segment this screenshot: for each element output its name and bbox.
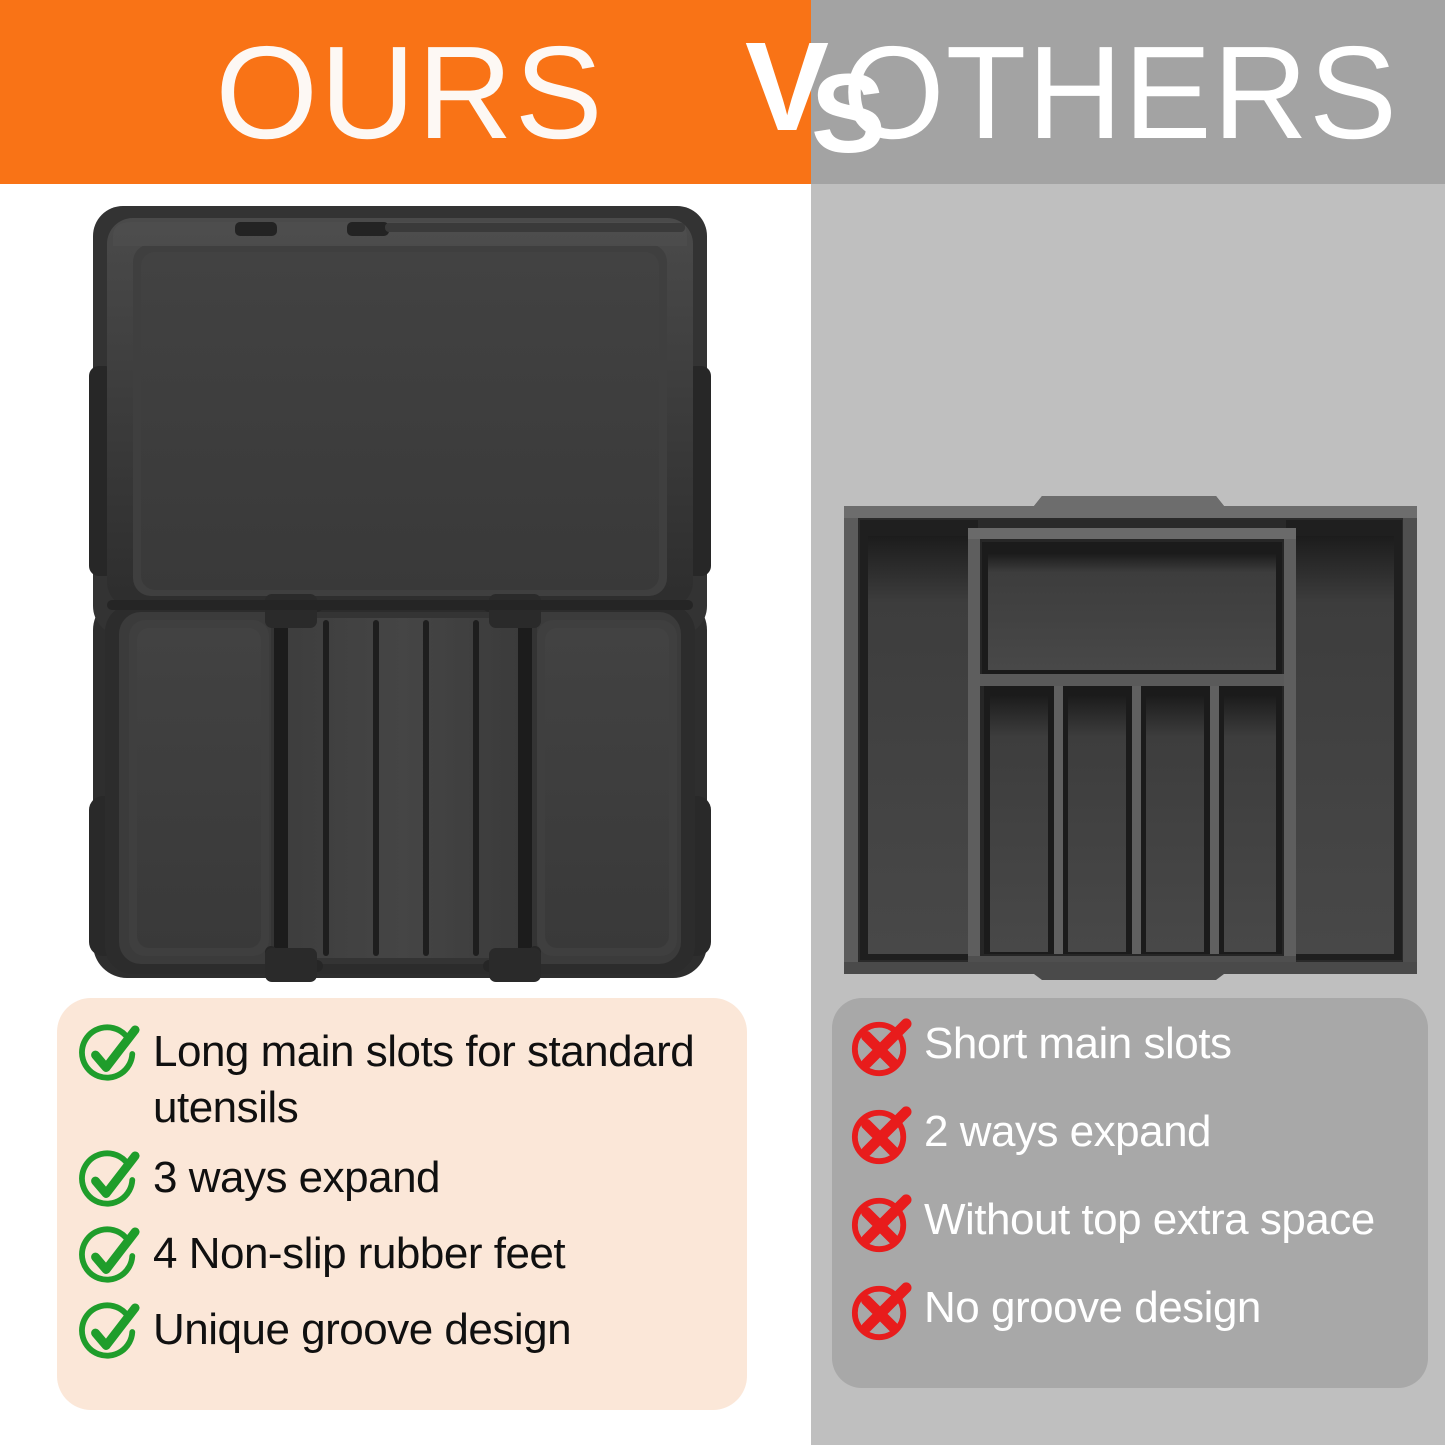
others-tray-illustration [838, 488, 1423, 986]
list-item: Unique groove design [79, 1302, 729, 1364]
red-x-circle-icon [850, 1192, 912, 1254]
list-item-label: Short main slots [924, 1016, 1231, 1072]
list-item: 3 ways expand [79, 1150, 729, 1212]
list-item-label: No groove design [924, 1280, 1261, 1336]
others-product-image [838, 488, 1423, 986]
comparison-infographic: OURS V S OTHERS [0, 0, 1445, 1445]
list-item: 2 ways expand [850, 1104, 1414, 1166]
ours-feature-card: Long main slots for standard utensils 3 … [57, 998, 747, 1410]
green-check-circle-icon [79, 1150, 141, 1212]
list-item: No groove design [850, 1280, 1414, 1342]
header-ours-title: OURS [200, 18, 620, 168]
list-item: Without top extra space [850, 1192, 1414, 1254]
green-check-circle-icon [79, 1024, 141, 1086]
green-check-circle-icon [79, 1302, 141, 1364]
green-check-circle-icon [79, 1226, 141, 1288]
list-item-label: 4 Non-slip rubber feet [153, 1226, 565, 1282]
list-item-label: Without top extra space [924, 1192, 1375, 1248]
header-banner: OURS V S OTHERS [0, 0, 1445, 184]
ours-tray-illustration [85, 196, 715, 986]
header-others-title: OTHERS [890, 18, 1350, 168]
list-item: 4 Non-slip rubber feet [79, 1226, 729, 1288]
red-x-circle-icon [850, 1104, 912, 1166]
list-item-label: Unique groove design [153, 1302, 571, 1358]
red-x-circle-icon [850, 1016, 912, 1078]
others-feature-card: Short main slots 2 ways expand Witho [832, 998, 1428, 1388]
red-x-circle-icon [850, 1280, 912, 1342]
list-item-label: Long main slots for standard utensils [153, 1024, 713, 1136]
list-item: Long main slots for standard utensils [79, 1024, 729, 1136]
list-item-label: 3 ways expand [153, 1150, 440, 1206]
ours-product-image [85, 196, 715, 986]
list-item: Short main slots [850, 1016, 1414, 1078]
list-item-label: 2 ways expand [924, 1104, 1211, 1160]
